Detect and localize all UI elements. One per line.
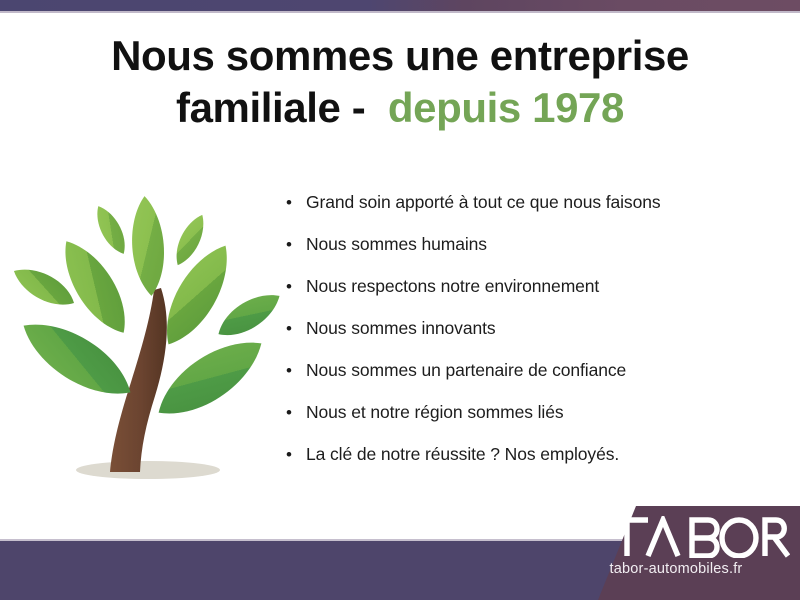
list-item: • Nous et notre région sommes liés (286, 402, 786, 444)
list-item-label: Nous et notre région sommes liés (306, 402, 563, 423)
bullet-marker-icon: • (286, 362, 306, 379)
logo-letter-t (606, 520, 648, 556)
value-proposition-list: • Grand soin apporté à tout ce que nous … (286, 192, 786, 486)
tree-shadow (76, 461, 220, 479)
logo-letter-a (648, 520, 678, 556)
list-item: • La clé de notre réussite ? Nos employé… (286, 444, 786, 486)
bullet-marker-icon: • (286, 320, 306, 337)
slide-canvas: Nous sommes une entreprise familiale - d… (0, 0, 800, 600)
list-item-label: Grand soin apporté à tout ce que nous fa… (306, 192, 661, 213)
logo-letter-r (765, 520, 788, 556)
bullet-marker-icon: • (286, 278, 306, 295)
list-item-label: Nous sommes un partenaire de confiance (306, 360, 626, 381)
list-item: • Nous respectons notre environnement (286, 276, 786, 318)
list-item-label: Nous respectons notre environnement (306, 276, 599, 297)
list-item: • Nous sommes innovants (286, 318, 786, 360)
tabor-logo[interactable] (604, 516, 790, 558)
title-line-2-black: familiale - (176, 84, 365, 131)
title-line-2-green: depuis 1978 (388, 84, 624, 131)
list-item-label: Nous sommes humains (306, 234, 487, 255)
list-item: • Nous sommes un partenaire de confiance (286, 360, 786, 402)
top-accent-bar (0, 0, 800, 11)
list-item: • Grand soin apporté à tout ce que nous … (286, 192, 786, 234)
list-item-label: Nous sommes innovants (306, 318, 496, 339)
bullet-marker-icon: • (286, 446, 306, 463)
logo-letter-b-bowls (692, 520, 717, 556)
logo-website-url[interactable]: tabor-automobiles.fr (560, 561, 792, 577)
title-line-2: familiale - depuis 1978 (0, 86, 800, 130)
page-title: Nous sommes une entreprise familiale - d… (0, 34, 800, 129)
leaf-far-right (212, 285, 282, 345)
leaf-upper-left-small (90, 202, 132, 258)
list-item-label: La clé de notre réussite ? Nos employés. (306, 444, 619, 465)
top-accent-bar-edge (0, 11, 800, 13)
title-line-1: Nous sommes une entreprise (0, 34, 800, 78)
bullet-marker-icon: • (286, 404, 306, 421)
tree-illustration (14, 182, 282, 482)
leaf-top-center (129, 195, 167, 297)
bullet-marker-icon: • (286, 236, 306, 253)
bullet-marker-icon: • (286, 194, 306, 211)
logo-letter-o (722, 520, 756, 556)
list-item: • Nous sommes humains (286, 234, 786, 276)
